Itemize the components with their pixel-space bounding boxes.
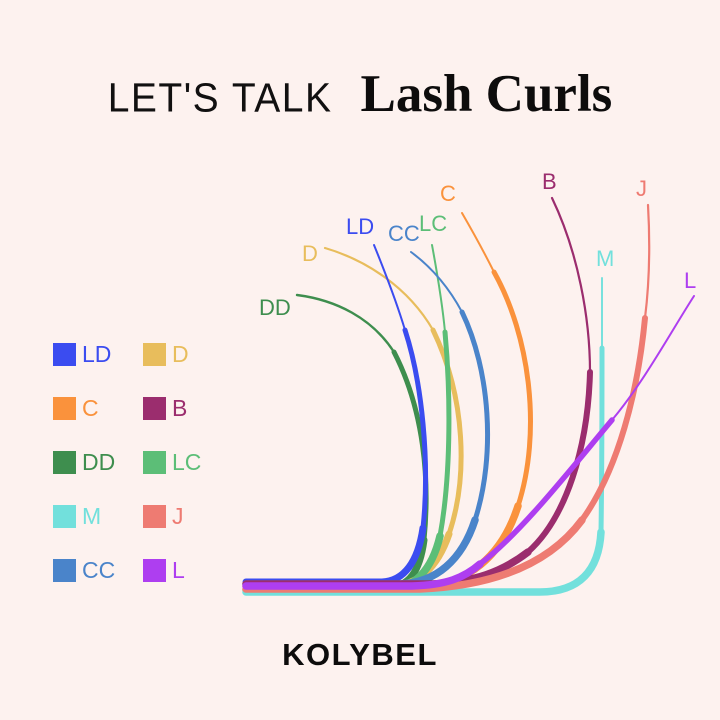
legend-swatch-CC (53, 559, 76, 582)
legend-swatch-LC (143, 451, 166, 474)
curve-label-B: B (542, 171, 557, 193)
curve-LD-tip (374, 245, 405, 330)
legend-swatch-C (53, 397, 76, 420)
curve-LD-taper (405, 330, 426, 528)
curve-label-J: J (636, 178, 647, 200)
curve-C-taper (494, 272, 530, 506)
legend-item-L[interactable]: L (143, 558, 233, 582)
curve-L-tip (612, 296, 694, 420)
legend-item-M[interactable]: M (53, 504, 143, 528)
legend-label-M: M (82, 505, 101, 528)
legend-item-D[interactable]: D (143, 342, 233, 366)
curve-DD-taper (394, 352, 426, 540)
legend-label-J: J (172, 505, 184, 528)
legend-item-DD[interactable]: DD (53, 450, 143, 474)
curve-label-DD: DD (259, 297, 291, 319)
legend-label-LD: LD (82, 343, 111, 366)
curve-label-M: M (596, 248, 614, 270)
legend-item-B[interactable]: B (143, 396, 233, 420)
brand-wordmark: KOLYBEL (0, 637, 720, 673)
poster-canvas: LET'S TALK Lash Curls (0, 0, 720, 720)
legend-swatch-L (143, 559, 166, 582)
legend-swatch-D (143, 343, 166, 366)
legend-swatch-DD (53, 451, 76, 474)
curve-label-LD: LD (346, 216, 374, 238)
legend-item-LD[interactable]: LD (53, 342, 143, 366)
legend-label-L: L (172, 559, 185, 582)
curve-C-tip (462, 213, 494, 272)
curve-CC-taper (462, 312, 488, 520)
curve-DD-tip (297, 295, 394, 352)
legend-swatch-LD (53, 343, 76, 366)
legend-label-D: D (172, 343, 189, 366)
legend-label-DD: DD (82, 451, 115, 474)
curve-D-tip (325, 248, 433, 330)
legend-item-J[interactable]: J (143, 504, 233, 528)
curve-LC-tip (432, 245, 445, 332)
curve-label-CC: CC (388, 223, 420, 245)
legend-label-LC: LC (172, 451, 201, 474)
curve-DD (246, 295, 426, 588)
curve-LD-body (246, 528, 423, 582)
curve-CC-tip (411, 252, 462, 312)
legend-label-B: B (172, 397, 187, 420)
curve-label-C: C (440, 183, 456, 205)
curve-B-tip (552, 198, 590, 372)
legend-label-C: C (82, 397, 99, 420)
curve-J-tip (645, 205, 649, 318)
legend-item-C[interactable]: C (53, 396, 143, 420)
curve-label-LC: LC (419, 213, 447, 235)
curve-label-L: L (684, 270, 696, 292)
legend-swatch-J (143, 505, 166, 528)
legend-label-CC: CC (82, 559, 115, 582)
legend-swatch-M (53, 505, 76, 528)
curve-M-taper (601, 348, 602, 532)
legend-item-CC[interactable]: CC (53, 558, 143, 582)
curve-L (246, 296, 694, 586)
legend: LD D C B DD LC M J (53, 342, 228, 612)
curve-label-D: D (302, 243, 318, 265)
legend-item-LC[interactable]: LC (143, 450, 233, 474)
legend-swatch-B (143, 397, 166, 420)
